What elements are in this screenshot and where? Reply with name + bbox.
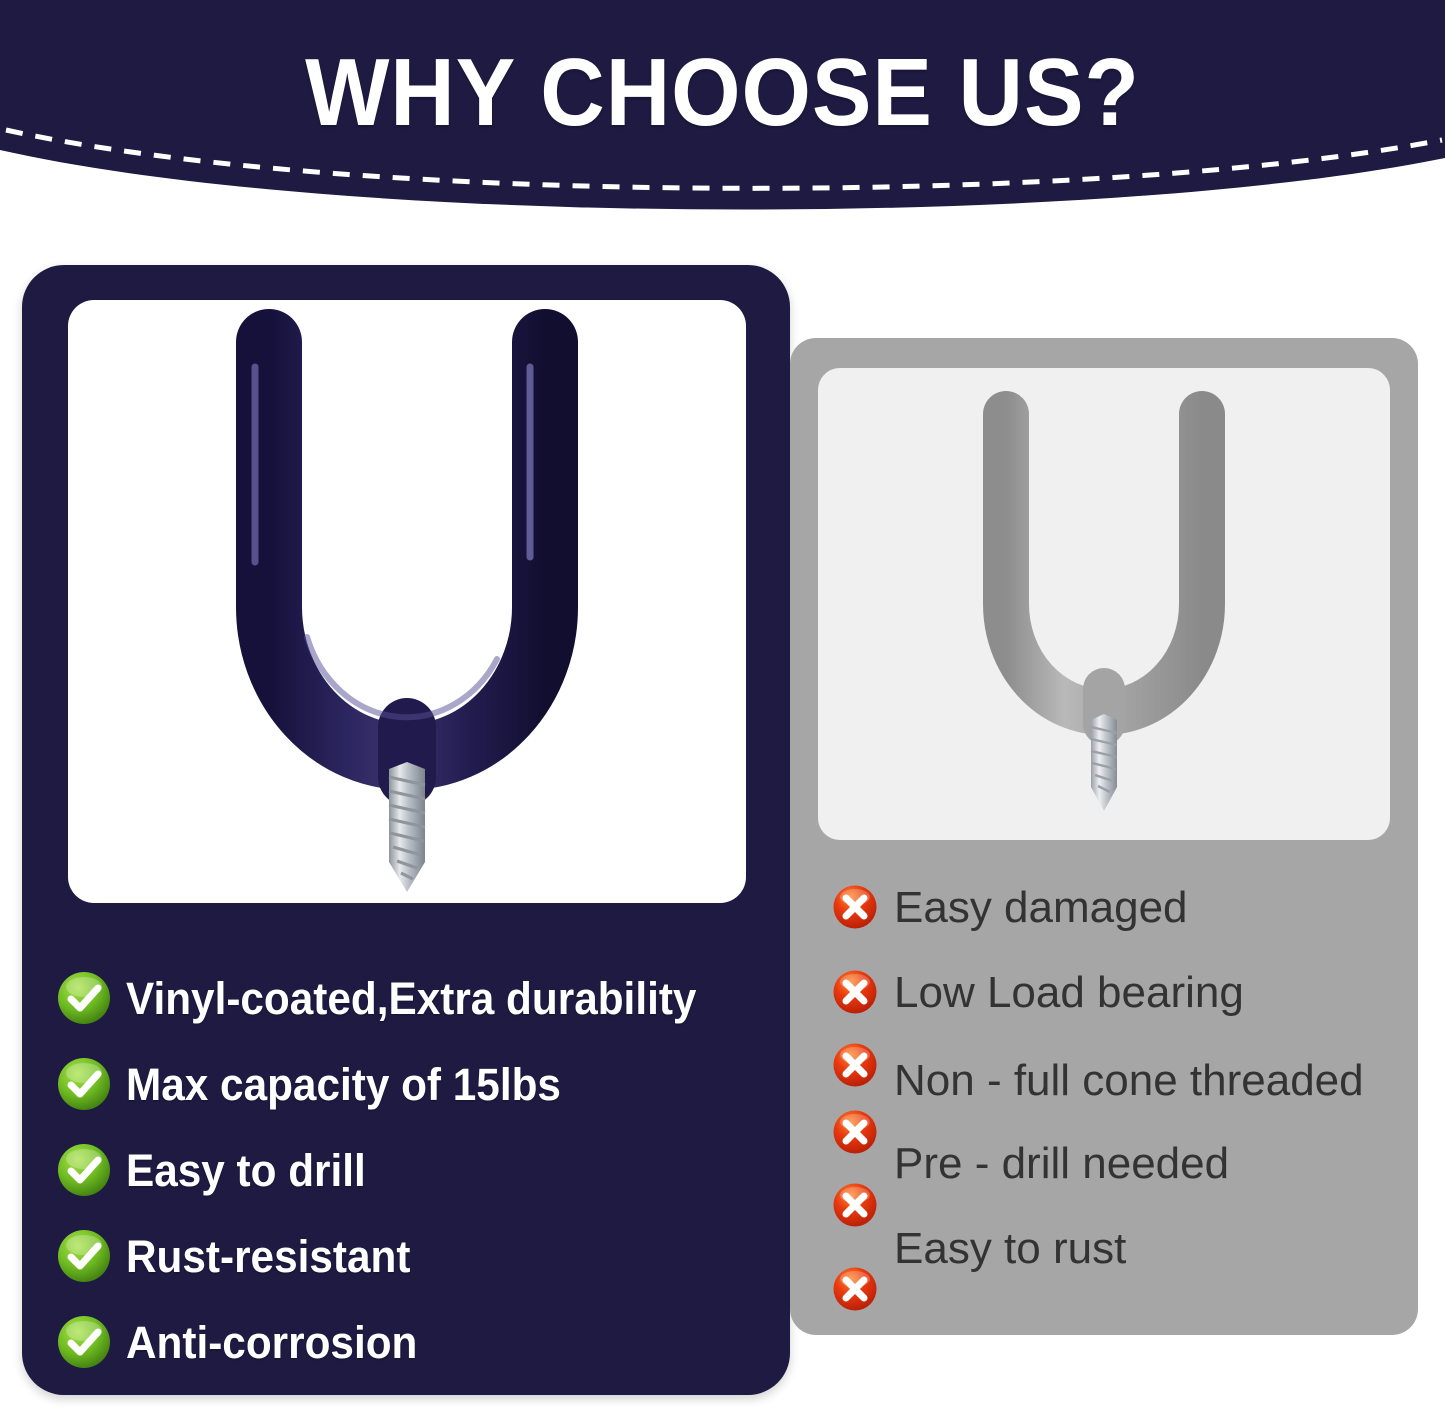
list-item: Easy to drill bbox=[56, 1127, 786, 1213]
competitor-product-panel: Easy damaged Low Load bearing Non - full… bbox=[790, 338, 1418, 1335]
check-icon bbox=[56, 1056, 112, 1112]
list-item-label: Easy to drill bbox=[126, 1148, 366, 1193]
list-item-label: Anti-corrosion bbox=[126, 1320, 417, 1365]
list-item-label: Easy damaged bbox=[894, 886, 1188, 930]
check-icon bbox=[56, 1314, 112, 1370]
cross-icon bbox=[832, 969, 878, 1015]
list-item-label: Max capacity of 15lbs bbox=[126, 1062, 561, 1107]
list-item-label: Pre - drill needed bbox=[894, 1142, 1229, 1186]
grey-hook-image bbox=[954, 389, 1254, 819]
cross-icon bbox=[832, 1109, 878, 1155]
list-item-label: Vinyl-coated,Extra durability bbox=[126, 976, 696, 1021]
navy-hook-image bbox=[197, 307, 617, 897]
list-item: Max capacity of 15lbs bbox=[56, 1041, 786, 1127]
grey-hook-u-body bbox=[1006, 414, 1202, 712]
list-item: Anti-corrosion bbox=[56, 1299, 786, 1385]
cross-icon bbox=[832, 1266, 878, 1312]
cross-icon bbox=[832, 1182, 878, 1228]
competitor-product-image-card bbox=[818, 368, 1390, 840]
cross-icon-slot bbox=[832, 1109, 878, 1155]
cross-icon-slot bbox=[832, 1042, 878, 1088]
cross-icon bbox=[832, 884, 878, 930]
list-item: Rust-resistant bbox=[56, 1213, 786, 1299]
cross-icon-slot bbox=[832, 1182, 878, 1228]
good-product-image-card bbox=[68, 300, 746, 903]
cross-icon bbox=[832, 1042, 878, 1088]
list-item-label: Low Load bearing bbox=[894, 971, 1244, 1015]
list-item-label: Non - full cone threaded bbox=[894, 1059, 1364, 1103]
list-item: Vinyl-coated,Extra durability bbox=[56, 955, 786, 1041]
good-features-list: Vinyl-coated,Extra durability Max capaci… bbox=[56, 955, 786, 1385]
check-icon bbox=[56, 1228, 112, 1284]
check-icon bbox=[56, 970, 112, 1026]
list-item-label: Rust-resistant bbox=[126, 1234, 410, 1279]
good-product-panel: Vinyl-coated,Extra durability Max capaci… bbox=[22, 265, 790, 1395]
infographic-page: WHY CHOOSE US? bbox=[0, 0, 1445, 1407]
cross-icon-slot bbox=[832, 884, 878, 930]
check-icon bbox=[56, 1142, 112, 1198]
page-title: WHY CHOOSE US? bbox=[51, 45, 1395, 141]
header-banner: WHY CHOOSE US? bbox=[0, 0, 1445, 235]
hook-u-body bbox=[269, 342, 545, 757]
list-item-label: Easy to rust bbox=[894, 1227, 1126, 1271]
cross-icon-slot bbox=[832, 969, 878, 1015]
cross-icon-slot bbox=[832, 1266, 878, 1312]
